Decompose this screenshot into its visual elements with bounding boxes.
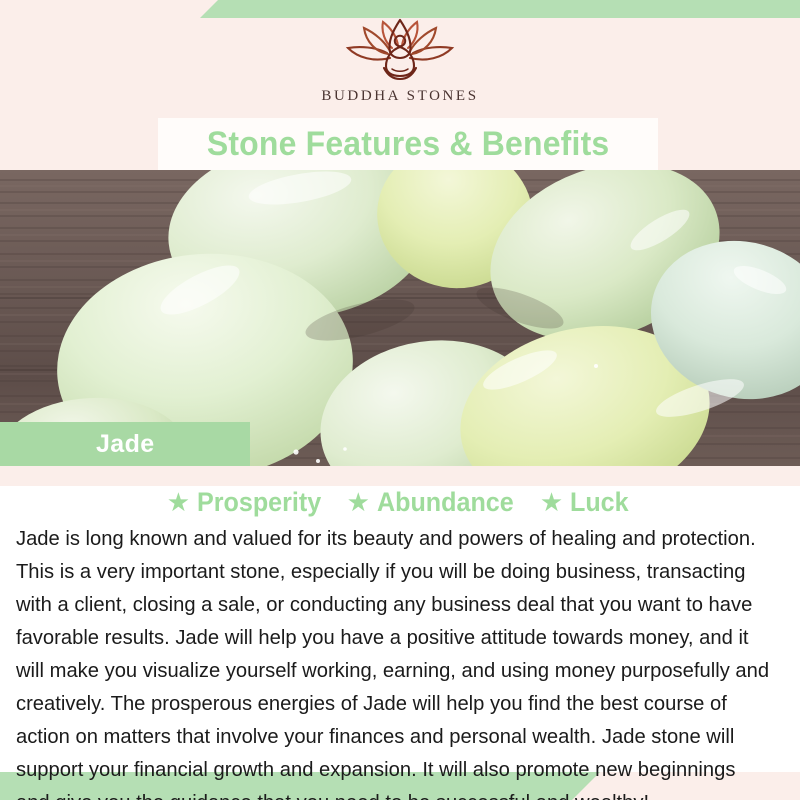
stone-description-text: Jade is long known and valued for its be…: [14, 522, 774, 800]
benefit-item-abundance: ★ Abundance: [347, 487, 524, 518]
brand-wordmark: BUDDHA STONES: [321, 88, 478, 105]
pink-divider-strip: [0, 466, 800, 486]
star-icon: ★: [167, 489, 190, 515]
star-icon: ★: [347, 489, 370, 515]
poster-root: BUDDHA STONES Stone Features & Benefits: [0, 0, 800, 800]
green-top-band-decoration: [200, 0, 800, 18]
star-icon: ★: [540, 489, 563, 515]
title-band: Stone Features & Benefits: [158, 118, 658, 170]
lotus-meditation-figure-icon: [342, 18, 458, 84]
benefit-label: Luck: [570, 487, 629, 518]
benefits-row: ★ Prosperity ★ Abundance ★ Luck: [14, 484, 786, 520]
stone-name-tab: Jade: [0, 422, 250, 466]
page-title: Stone Features & Benefits: [207, 125, 610, 164]
benefit-item-luck: ★ Luck: [540, 487, 633, 518]
content-panel: ★ Prosperity ★ Abundance ★ Luck Jade is …: [0, 486, 800, 772]
stone-name-label: Jade: [96, 430, 155, 459]
brand-logo-block: BUDDHA STONES: [0, 18, 800, 118]
benefit-label: Prosperity: [197, 487, 321, 518]
benefit-label: Abundance: [377, 487, 514, 518]
benefit-item-prosperity: ★ Prosperity: [167, 487, 331, 518]
